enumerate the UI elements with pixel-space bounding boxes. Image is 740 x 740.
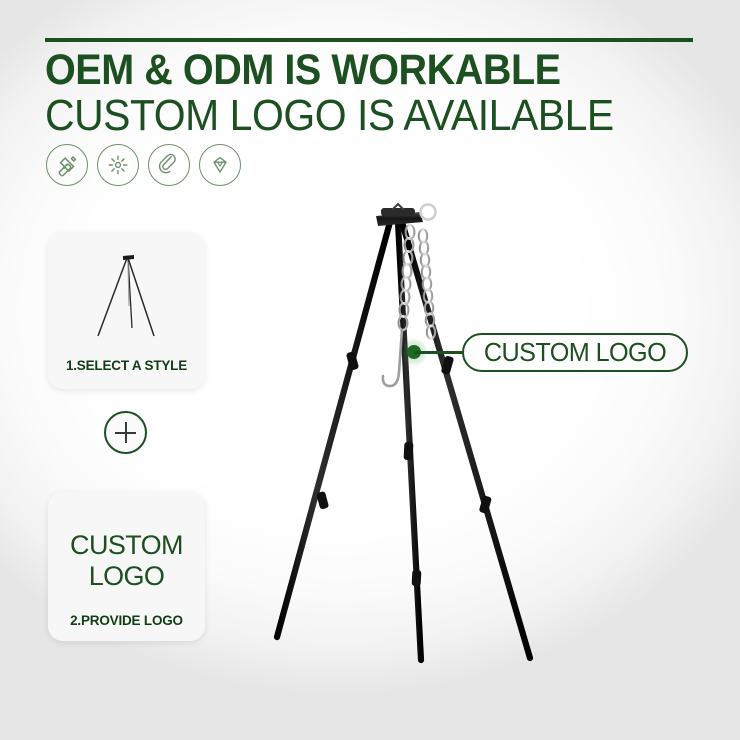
promo-banner: OEM & ODM IS WORKABLE CUSTOM LOGO IS AVA… [0,0,740,740]
callout-leader-line [414,351,464,354]
hanging-chain [399,225,436,339]
custom-logo-line2: LOGO [48,561,205,592]
header-rule [45,38,693,42]
headline-primary: OEM & ODM IS WORKABLE [45,48,671,92]
s-hook [383,330,402,386]
tripod-leg-right [402,222,530,658]
tripod-thumbnail [48,240,205,352]
plus-connector [104,411,147,454]
step-card-1-caption: 1.SELECT A STYLE [48,358,205,373]
sun-burst-icon [97,144,139,186]
paperclip-icon [148,144,190,186]
custom-logo-placeholder: CUSTOM LOGO [48,530,205,592]
diamond-icon [199,144,241,186]
feature-icon-row [46,144,241,186]
headline-secondary: CUSTOM LOGO IS AVAILABLE [45,93,696,139]
step-card-provide-logo[interactable]: CUSTOM LOGO 2.PROVIDE LOGO [48,492,205,641]
step-card-2-caption: 2.PROVIDE LOGO [48,613,205,628]
tripod-leg-left [277,222,390,637]
custom-logo-line1: CUSTOM [48,530,205,561]
plus-vertical-bar [125,422,127,443]
ruler-pencil-icon [46,144,88,186]
tripod-head [376,204,436,226]
custom-logo-callout-label: CUSTOM LOGO [484,337,666,368]
custom-logo-callout: CUSTOM LOGO [462,333,688,372]
tripod-leg-back [398,222,421,660]
step-card-select-style[interactable]: 1.SELECT A STYLE [48,232,205,389]
